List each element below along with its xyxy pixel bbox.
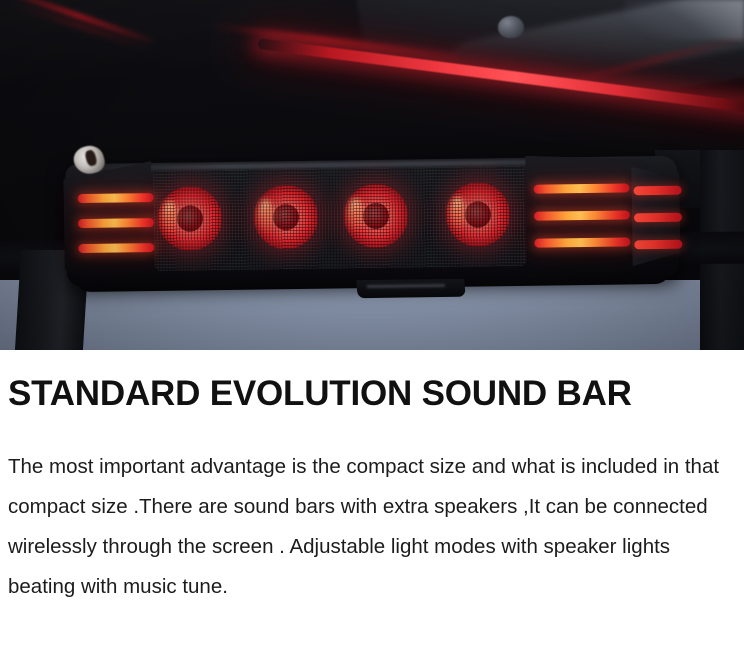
desk-corner-reflection — [624, 0, 744, 40]
led-light-bar-right — [534, 210, 630, 220]
led-light-bar-right-facet — [634, 213, 682, 223]
soundbar-mount-foot — [356, 279, 465, 298]
product-photo — [0, 0, 744, 350]
led-light-bar-right — [534, 237, 630, 247]
mount-knob — [498, 16, 524, 38]
led-light-bar-left — [78, 218, 154, 228]
product-card: STANDARD EVOLUTION SOUND BAR The most im… — [0, 0, 744, 667]
led-light-bar-right-facet — [634, 240, 682, 250]
product-content: STANDARD EVOLUTION SOUND BAR The most im… — [0, 350, 744, 607]
led-light-bar-right-facet — [634, 186, 682, 196]
led-light-bar-left — [78, 243, 154, 253]
product-description: The most important advantage is the comp… — [8, 447, 736, 607]
led-light-bar-right — [534, 183, 630, 193]
led-light-bar-left — [78, 193, 154, 203]
product-title: STANDARD EVOLUTION SOUND BAR — [8, 376, 736, 413]
soundbar — [65, 156, 679, 287]
